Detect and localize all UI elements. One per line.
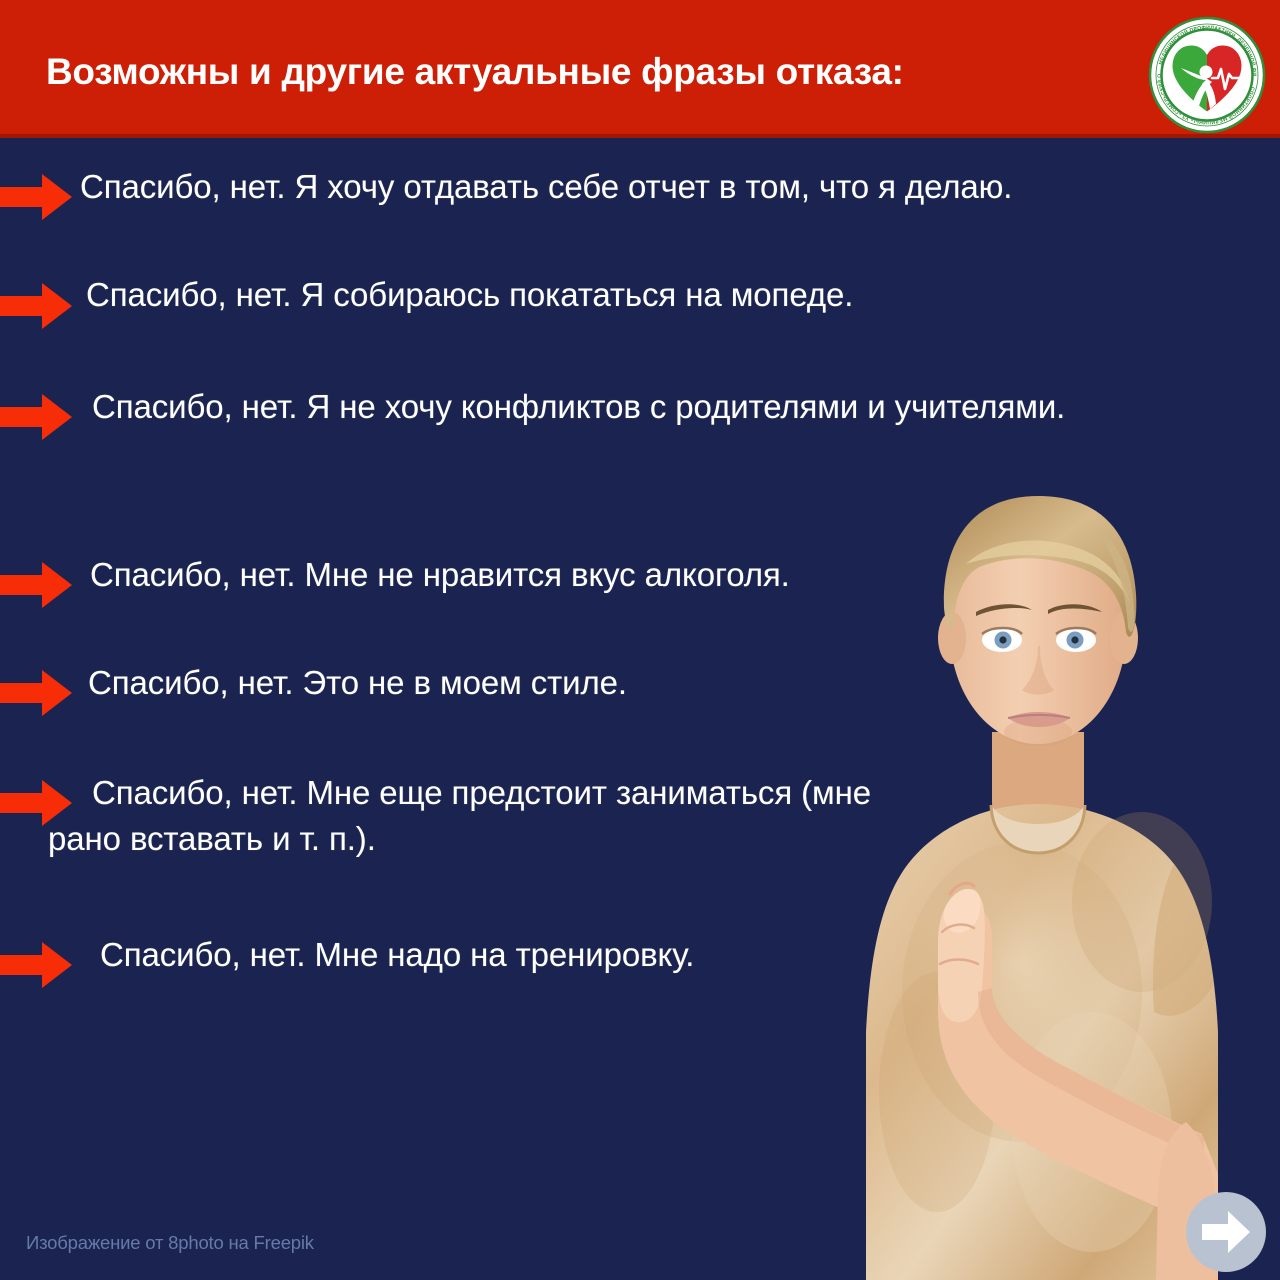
list-item-label: Спасибо, нет. Я хочу отдавать себе отчет… [80, 164, 1220, 210]
next-slide-button[interactable] [1186, 1192, 1266, 1272]
slide-root: Возможны и другие актуальные фразы отказ… [0, 0, 1280, 1280]
red-arrow-right-icon [0, 942, 72, 988]
attribution-line-1: Изображение от 8photo на Freepik [26, 1231, 1266, 1256]
red-arrow-right-icon [0, 174, 72, 220]
red-arrow-right-icon [0, 562, 72, 608]
header-bar: Возможны и другие актуальные фразы отказ… [0, 0, 1280, 138]
page-title: Возможны и другие актуальные фразы отказ… [46, 50, 1106, 94]
list-item-label: Спасибо, нет. Мне еще предстоит занимать… [48, 770, 908, 862]
list-item-label: Спасибо, нет. Я не хочу конфликтов с род… [48, 384, 1216, 430]
red-arrow-right-icon [0, 670, 72, 716]
heart-health-logo-icon: МЕДИЦИНСКОЙ ПРОФИЛАКТИКИ, ЛЕЧЕБНОЙ ФИЗКУ… [1148, 16, 1266, 134]
arrow-right-icon [1200, 1209, 1252, 1255]
teenager-boy-stop-gesture-photo [842, 432, 1280, 1280]
list-item-label: Спасибо, нет. Я собираюсь покататься на … [86, 272, 1216, 318]
attribution-text: Изображение от 8photo на Freepik <a href… [26, 1182, 1266, 1280]
red-arrow-right-icon [0, 283, 72, 329]
